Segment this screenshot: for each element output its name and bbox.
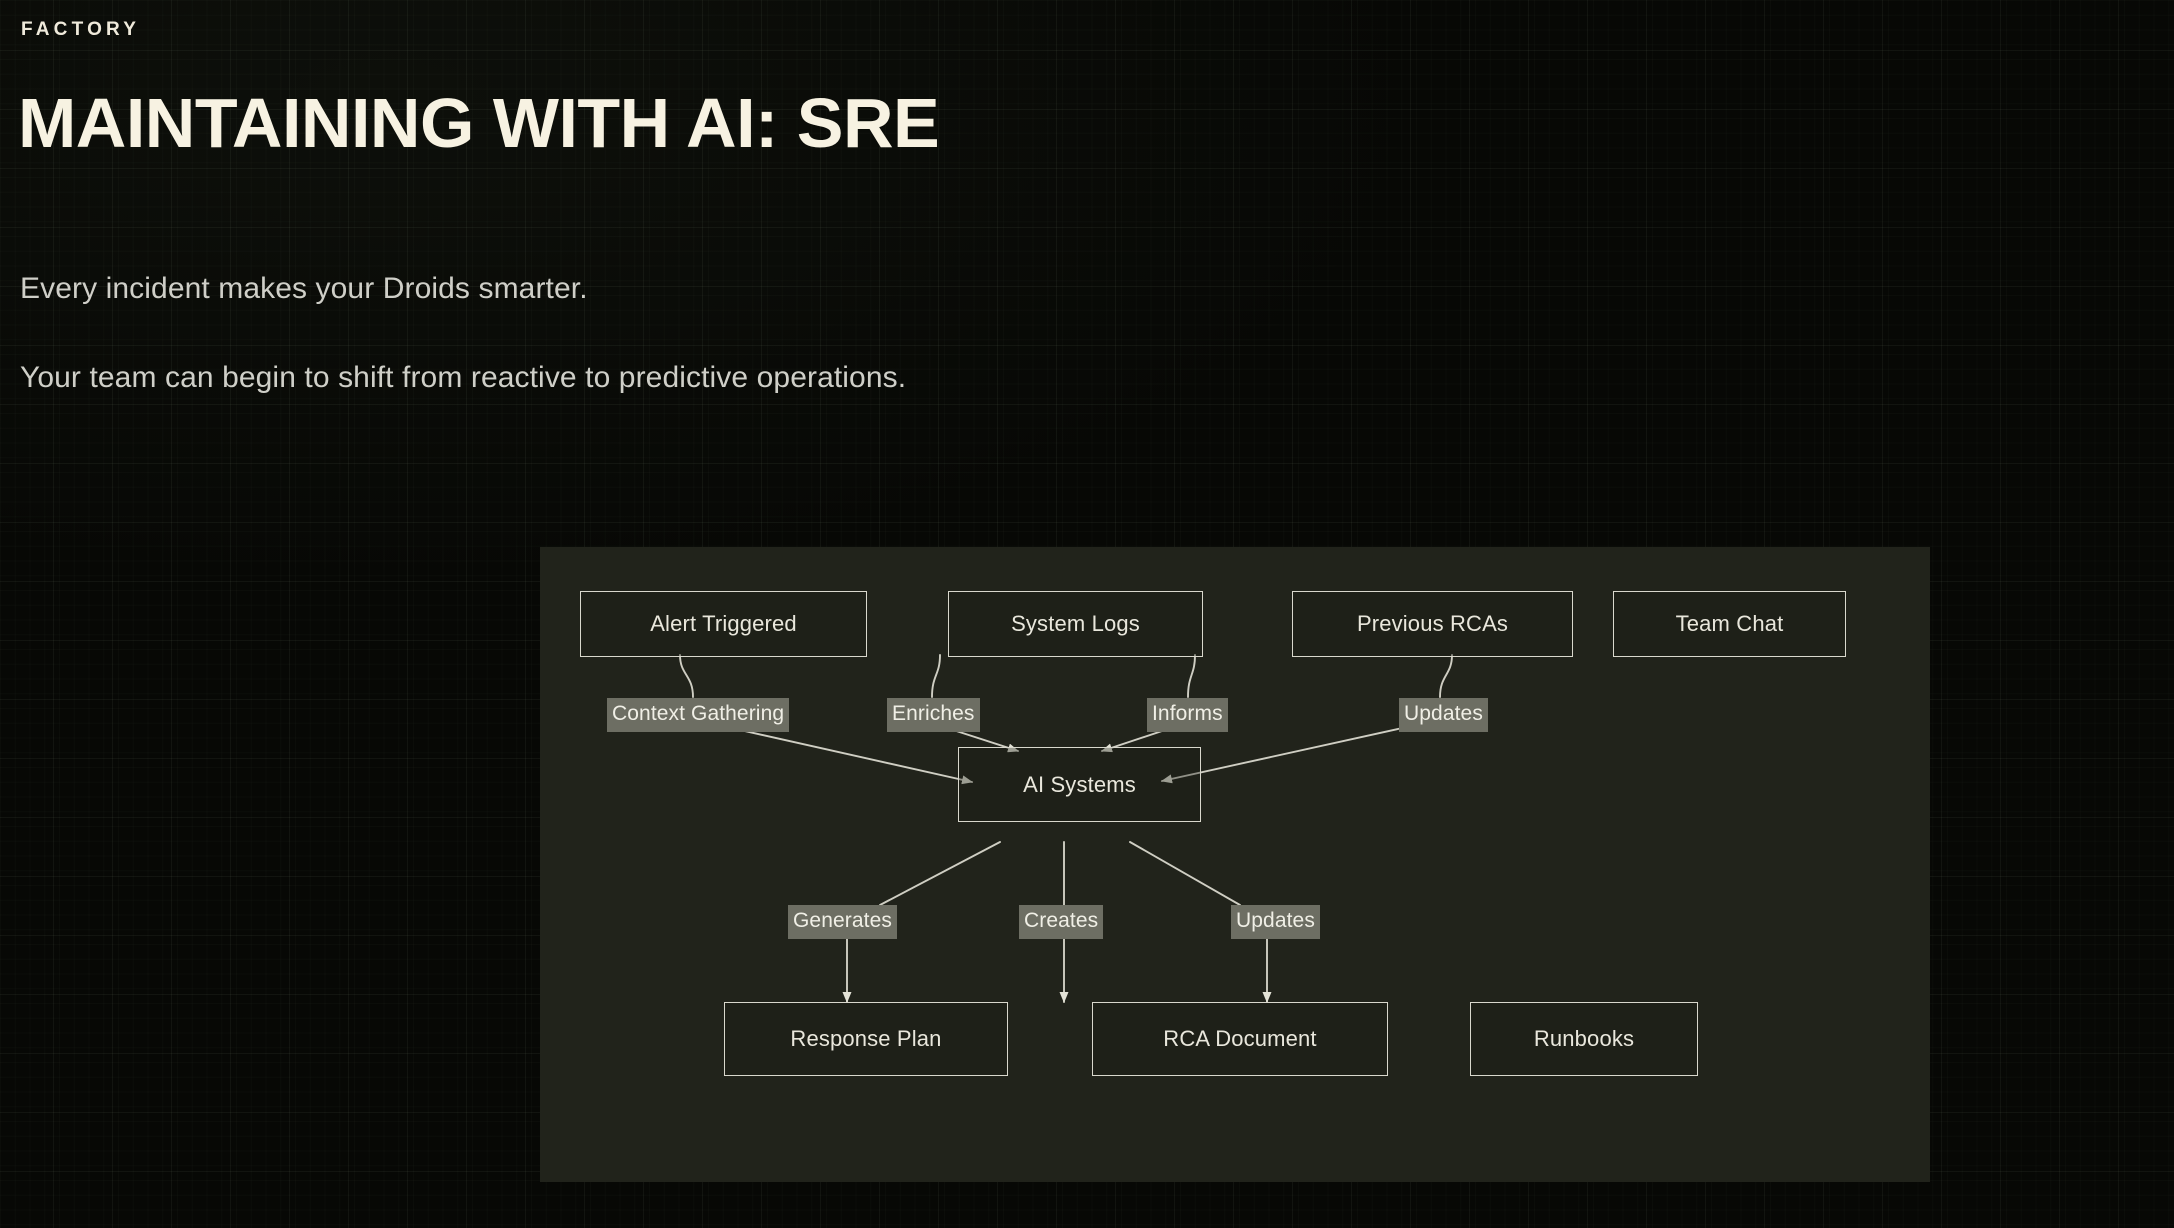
node-label: Response Plan [790, 1026, 941, 1052]
slide-canvas: FACTORY MAINTAINING WITH AI: SRE Every i… [0, 0, 2174, 1228]
body-line-1: Every incident makes your Droids smarter… [20, 273, 1520, 305]
node-label: Team Chat [1676, 611, 1784, 637]
edge-label-context-gathering: Context Gathering [607, 698, 789, 732]
node-previous-rcas[interactable]: Previous RCAs [1292, 591, 1573, 657]
node-team-chat[interactable]: Team Chat [1613, 591, 1846, 657]
node-label: System Logs [1011, 611, 1140, 637]
node-system-logs[interactable]: System Logs [948, 591, 1203, 657]
node-label: Alert Triggered [650, 611, 797, 637]
node-ai-systems[interactable]: AI Systems [958, 747, 1201, 822]
edge-hub-to-updates-runbooks [1130, 842, 1240, 905]
edge-label-generates: Generates [788, 905, 897, 939]
edge-label-enriches: Enriches [887, 698, 980, 732]
edge-chat-to-label [1440, 655, 1452, 697]
edge-logs-to-label [932, 655, 940, 697]
node-label: RCA Document [1163, 1026, 1316, 1052]
edge-context-gathering-to-hub [718, 725, 972, 782]
body-copy: Every incident makes your Droids smarter… [20, 273, 1520, 394]
node-alert-triggered[interactable]: Alert Triggered [580, 591, 867, 657]
body-line-2: Your team can begin to shift from reacti… [20, 362, 1520, 394]
edge-alert-to-label [680, 655, 693, 697]
node-runbooks[interactable]: Runbooks [1470, 1002, 1698, 1076]
edge-label-updates-to-runbooks: Updates [1231, 905, 1320, 939]
node-label: AI Systems [1023, 772, 1136, 798]
edge-label-creates: Creates [1019, 905, 1103, 939]
node-response-plan[interactable]: Response Plan [724, 1002, 1008, 1076]
brand-logo: FACTORY [21, 19, 140, 41]
edge-rcas-to-label [1188, 655, 1195, 697]
diagram-panel: Alert Triggered System Logs Previous RCA… [540, 547, 1930, 1182]
node-rca-document[interactable]: RCA Document [1092, 1002, 1388, 1076]
edge-hub-to-generates [880, 842, 1000, 905]
edge-label-updates-from-chat: Updates [1399, 698, 1488, 732]
node-label: Previous RCAs [1357, 611, 1508, 637]
node-label: Runbooks [1534, 1026, 1634, 1052]
edge-label-informs: Informs [1147, 698, 1228, 732]
page-title: MAINTAINING WITH AI: SRE [18, 88, 939, 158]
